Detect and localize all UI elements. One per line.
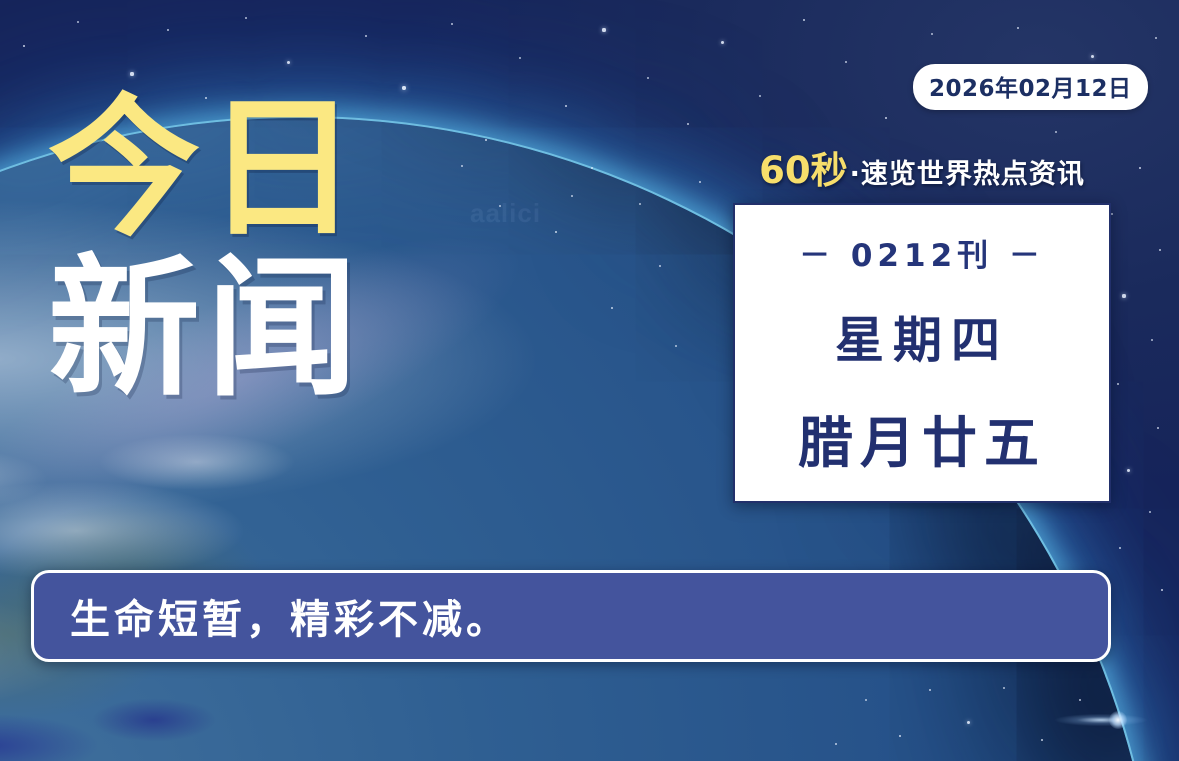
tagline-rest: ·速览世界热点资讯 — [850, 152, 1085, 191]
masthead-line-today: 今日 — [48, 96, 478, 242]
issue-number: － 0212刊 － — [799, 230, 1045, 275]
tagline-highlight: 60秒 — [759, 140, 848, 194]
weekday-label: 星期四 — [835, 301, 1009, 372]
masthead: 今日 新闻 — [48, 96, 478, 402]
quote-text: 生命短暂，精彩不减。 — [34, 587, 510, 645]
lunar-date-label: 腊月廿五 — [798, 398, 1046, 478]
quote-bar: 生命短暂，精彩不减。 — [31, 570, 1111, 662]
tagline: 60秒 ·速览世界热点资讯 — [733, 140, 1111, 194]
date-badge: 2026年02月12日 — [913, 64, 1148, 110]
right-column: 60秒 ·速览世界热点资讯 － 0212刊 － 星期四 腊月廿五 — [733, 140, 1111, 503]
info-card: － 0212刊 － 星期四 腊月廿五 — [733, 203, 1111, 503]
masthead-line-news: 新闻 — [48, 256, 478, 402]
poster-canvas: aalici 今日 新闻 2026年02月12日 60秒 ·速览世界热点资讯 －… — [0, 0, 1179, 761]
